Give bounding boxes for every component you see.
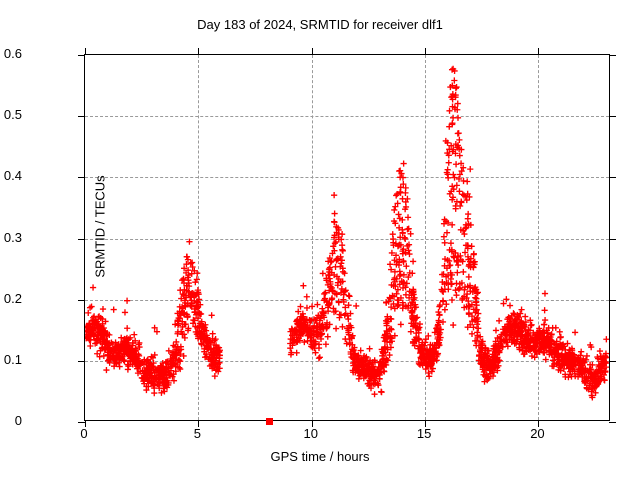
data-point: [413, 304, 419, 310]
data-point: [208, 347, 214, 353]
data-point: [371, 391, 377, 397]
data-point: [549, 341, 555, 347]
data-point: [366, 364, 372, 370]
data-point: [427, 350, 433, 356]
data-point: [519, 333, 525, 339]
data-point: [199, 341, 205, 347]
y-tick-label: 0.4: [0, 169, 22, 182]
data-point: [353, 303, 359, 309]
data-point: [569, 347, 575, 353]
data-point: [358, 371, 364, 377]
data-point: [332, 240, 338, 246]
data-point: [437, 337, 443, 343]
data-point: [448, 94, 454, 100]
data-point: [450, 322, 456, 328]
data-point: [189, 271, 195, 277]
data-point: [496, 348, 502, 354]
data-point: [587, 381, 593, 387]
data-point: [377, 366, 383, 372]
data-point: [401, 272, 407, 278]
data-point: [567, 347, 573, 353]
data-point: [466, 274, 472, 280]
data-point: [345, 316, 351, 322]
data-point: [441, 281, 447, 287]
data-point: [348, 349, 354, 355]
data-point: [298, 328, 304, 334]
data-point: [562, 351, 568, 357]
data-point: [132, 354, 138, 360]
data-point: [465, 324, 471, 330]
data-point: [433, 354, 439, 360]
data-point: [432, 329, 438, 335]
data-point: [555, 353, 561, 359]
data-point: [380, 363, 386, 369]
data-point: [449, 197, 455, 203]
data-point: [189, 304, 195, 310]
data-point: [383, 320, 389, 326]
data-point: [545, 340, 551, 346]
data-point: [570, 362, 576, 368]
data-point: [491, 353, 497, 359]
data-point: [354, 366, 360, 372]
data-point: [514, 330, 520, 336]
data-point: [495, 349, 501, 355]
data-point: [555, 367, 561, 373]
data-point: [312, 317, 318, 323]
data-point: [444, 169, 450, 175]
data-point: [393, 252, 399, 258]
data-point: [416, 330, 422, 336]
data-point: [119, 341, 125, 347]
data-point: [124, 298, 130, 304]
data-point: [111, 363, 117, 369]
data-point: [500, 300, 506, 306]
data-point: [453, 280, 459, 286]
data-point: [382, 331, 388, 337]
data-point: [491, 343, 497, 349]
data-point: [503, 339, 509, 345]
data-point: [527, 343, 533, 349]
data-point: [523, 332, 529, 338]
data-point: [180, 305, 186, 311]
data-point: [467, 259, 473, 265]
data-point: [143, 376, 149, 382]
data-point: [510, 322, 516, 328]
data-point: [554, 353, 560, 359]
data-point: [549, 352, 555, 358]
data-point: [511, 311, 517, 317]
data-point: [204, 337, 210, 343]
data-point: [480, 338, 486, 344]
data-point: [132, 353, 138, 359]
data-point: [124, 350, 130, 356]
data-point: [321, 291, 327, 297]
data-point: [410, 288, 416, 294]
data-point: [298, 333, 304, 339]
data-point: [335, 255, 341, 261]
data-point: [503, 327, 509, 333]
data-point: [599, 363, 605, 369]
data-point: [299, 321, 305, 327]
data-point: [487, 367, 493, 373]
data-point: [200, 334, 206, 340]
data-point: [177, 308, 183, 314]
data-point: [156, 372, 162, 378]
data-point: [213, 344, 219, 350]
data-point: [559, 351, 565, 357]
data-point: [601, 365, 607, 371]
data-point: [482, 347, 488, 353]
data-point: [152, 352, 158, 358]
data-point: [542, 337, 548, 343]
data-point: [418, 348, 424, 354]
data-point: [291, 338, 297, 344]
data-point: [588, 370, 594, 376]
data-point: [434, 327, 440, 333]
data-point: [509, 328, 515, 334]
data-point: [204, 335, 210, 341]
data-point: [143, 387, 149, 393]
data-point: [415, 346, 421, 352]
data-point: [155, 365, 161, 371]
data-point: [492, 342, 498, 348]
data-point: [318, 315, 324, 321]
data-point: [388, 326, 394, 332]
data-point: [496, 349, 502, 355]
y-tick-mark: [609, 422, 616, 423]
data-point: [299, 314, 305, 320]
data-point: [425, 354, 431, 360]
data-point: [206, 354, 212, 360]
data-point: [555, 350, 561, 356]
data-point: [507, 329, 513, 335]
data-point: [539, 330, 545, 336]
data-point: [494, 367, 500, 373]
data-point: [578, 349, 584, 355]
data-point: [173, 368, 179, 374]
data-point: [401, 160, 407, 166]
data-point: [135, 363, 141, 369]
data-point: [156, 385, 162, 391]
data-point: [443, 138, 449, 144]
data-point: [155, 381, 161, 387]
data-point: [147, 370, 153, 376]
data-point: [602, 359, 608, 365]
data-point: [333, 325, 339, 331]
data-point: [436, 311, 442, 317]
data-point: [130, 340, 136, 346]
data-point: [430, 345, 436, 351]
data-point: [175, 329, 181, 335]
data-point: [146, 371, 152, 377]
data-point: [289, 327, 295, 333]
data-point: [440, 289, 446, 295]
data-point: [388, 316, 394, 322]
data-point: [570, 352, 576, 358]
data-point: [571, 352, 577, 358]
data-point: [541, 321, 547, 327]
data-point: [396, 168, 402, 174]
data-point: [566, 347, 572, 353]
data-point: [437, 334, 443, 340]
data-point: [544, 334, 550, 340]
data-point: [516, 341, 522, 347]
data-point: [324, 320, 330, 326]
data-point: [300, 311, 306, 317]
data-point: [299, 322, 305, 328]
data-point: [335, 282, 341, 288]
data-point: [332, 210, 338, 216]
data-point: [143, 372, 149, 378]
data-point: [294, 337, 300, 343]
data-point: [504, 324, 510, 330]
data-point: [450, 194, 456, 200]
data-point: [449, 281, 455, 287]
data-point: [130, 361, 136, 367]
data-point: [427, 346, 433, 352]
data-point: [418, 349, 424, 355]
data-point: [575, 374, 581, 380]
data-point: [449, 183, 455, 189]
data-point: [416, 343, 422, 349]
data-point: [217, 352, 223, 358]
data-point: [459, 168, 465, 174]
data-point: [514, 334, 520, 340]
data-point: [302, 326, 308, 332]
data-point: [315, 312, 321, 318]
data-point: [564, 353, 570, 359]
data-point: [382, 349, 388, 355]
data-point: [156, 372, 162, 378]
data-point: [205, 341, 211, 347]
data-point: [135, 365, 141, 371]
data-point: [114, 343, 120, 349]
data-point: [455, 253, 461, 259]
data-point: [428, 362, 434, 368]
data-point: [85, 324, 89, 330]
data-point: [512, 341, 518, 347]
data-point: [130, 361, 136, 367]
data-point: [483, 364, 489, 370]
data-point: [172, 364, 178, 370]
data-point: [413, 334, 419, 340]
data-point: [166, 348, 172, 354]
data-point: [587, 366, 593, 372]
data-point: [581, 378, 587, 384]
data-point: [541, 322, 547, 328]
data-point: [209, 352, 215, 358]
data-point: [130, 349, 136, 355]
data-point: [558, 343, 564, 349]
data-point: [570, 357, 576, 363]
data-point: [355, 368, 361, 374]
data-point: [602, 353, 608, 359]
data-point: [329, 250, 335, 256]
data-point: [153, 375, 159, 381]
y-tick-mark: [78, 300, 85, 301]
data-point: [495, 363, 501, 369]
data-point: [411, 336, 417, 342]
data-point: [205, 345, 211, 351]
data-point: [508, 321, 514, 327]
data-point: [190, 292, 196, 298]
data-point: [145, 377, 151, 383]
data-point: [569, 350, 575, 356]
data-point: [467, 283, 473, 289]
data-point: [302, 326, 308, 332]
data-point: [485, 376, 491, 382]
data-point: [521, 351, 527, 357]
data-point: [502, 329, 508, 335]
data-point: [85, 328, 89, 334]
data-point: [202, 335, 208, 341]
data-point: [492, 347, 498, 353]
data-point: [207, 363, 213, 369]
data-point: [125, 361, 131, 367]
data-point: [337, 263, 343, 269]
data-point: [587, 382, 593, 388]
data-point: [508, 335, 514, 341]
data-point: [321, 314, 327, 320]
data-point: [357, 368, 363, 374]
data-point: [480, 354, 486, 360]
data-point: [588, 371, 594, 377]
data-point: [141, 373, 147, 379]
data-point: [201, 333, 207, 339]
data-point: [388, 304, 394, 310]
data-point: [369, 366, 375, 372]
data-point: [534, 329, 540, 335]
data-point: [341, 270, 347, 276]
data-point: [334, 273, 340, 279]
data-point: [569, 367, 575, 373]
data-point: [481, 361, 487, 367]
data-point: [301, 339, 307, 345]
data-point: [544, 336, 550, 342]
data-point: [518, 341, 524, 347]
data-point: [406, 226, 412, 232]
data-point: [203, 337, 209, 343]
data-point: [518, 321, 524, 327]
data-point: [515, 325, 521, 331]
data-point: [597, 364, 603, 370]
data-point: [419, 353, 425, 359]
data-point: [580, 367, 586, 373]
data-point: [368, 374, 374, 380]
data-point: [375, 382, 381, 388]
data-point: [110, 353, 116, 359]
data-point: [539, 336, 545, 342]
data-point: [544, 341, 550, 347]
data-point: [411, 291, 417, 297]
data-point: [600, 359, 606, 365]
data-point: [455, 262, 461, 268]
data-point: [473, 316, 479, 322]
data-point: [361, 366, 367, 372]
data-point: [447, 247, 453, 253]
data-point: [336, 227, 342, 233]
data-point: [418, 349, 424, 355]
data-point: [348, 351, 354, 357]
data-point: [325, 272, 331, 278]
data-point: [528, 337, 534, 343]
data-point: [87, 321, 93, 327]
data-point: [209, 312, 215, 318]
data-point: [410, 289, 416, 295]
data-point: [476, 343, 482, 349]
data-point: [545, 339, 551, 345]
data-point: [368, 372, 374, 378]
data-point: [454, 199, 460, 205]
data-point: [373, 370, 379, 376]
data-point: [288, 336, 294, 342]
data-point: [584, 385, 590, 391]
data-point: [561, 343, 567, 349]
data-point: [317, 326, 323, 332]
data-point: [539, 344, 545, 350]
data-point: [461, 192, 467, 198]
data-point: [108, 339, 114, 345]
data-point: [213, 342, 219, 348]
data-point: [591, 385, 597, 391]
data-point: [186, 280, 192, 286]
data-point: [172, 349, 178, 355]
data-point: [490, 363, 496, 369]
data-point: [164, 378, 170, 384]
data-point: [165, 365, 171, 371]
data-point: [340, 265, 346, 271]
data-point: [199, 330, 205, 336]
data-point: [407, 288, 413, 294]
data-point: [474, 338, 480, 344]
data-point: [300, 283, 306, 289]
data-point: [326, 287, 332, 293]
data-point: [320, 324, 326, 330]
data-point: [342, 312, 348, 318]
data-point: [412, 302, 418, 308]
data-point: [305, 329, 311, 335]
data-point: [551, 349, 557, 355]
data-point: [334, 291, 340, 297]
data-point: [156, 367, 162, 373]
data-point: [373, 370, 379, 376]
data-point: [181, 353, 187, 359]
data-point: [447, 191, 453, 197]
data-point: [298, 323, 304, 329]
data-point: [121, 345, 127, 351]
data-point: [331, 234, 337, 240]
data-point: [541, 330, 547, 336]
data-point: [338, 279, 344, 285]
data-point: [580, 365, 586, 371]
data-point: [175, 349, 181, 355]
data-point: [442, 256, 448, 262]
data-point: [527, 317, 533, 323]
data-point: [116, 348, 122, 354]
data-point: [432, 349, 438, 355]
data-point: [356, 364, 362, 370]
data-point: [200, 335, 206, 341]
data-point: [433, 344, 439, 350]
data-point: [473, 286, 479, 292]
data-point: [565, 374, 571, 380]
data-point: [444, 265, 450, 271]
data-point: [576, 367, 582, 373]
data-point: [519, 333, 525, 339]
data-point: [589, 381, 595, 387]
data-point: [300, 329, 306, 335]
data-point: [184, 254, 190, 260]
